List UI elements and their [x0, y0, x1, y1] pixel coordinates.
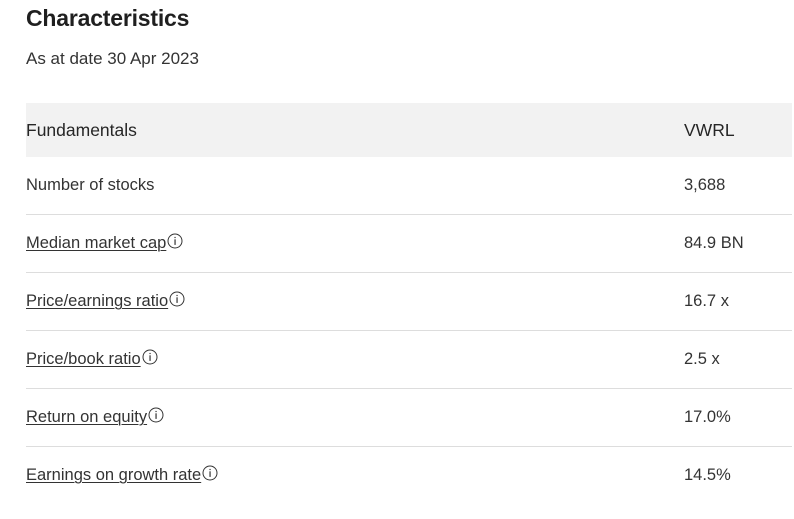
table-row: Earnings on growth rate14.5%	[26, 447, 792, 505]
metric-term-link[interactable]: Median market cap	[26, 234, 183, 253]
row-value-cell: 84.9 BN	[684, 215, 792, 273]
metric-label: Median market cap	[26, 234, 166, 253]
table-row: Price/book ratio2.5 x	[26, 331, 792, 389]
row-value-cell: 2.5 x	[684, 331, 792, 389]
info-circle-icon[interactable]	[167, 233, 183, 249]
table-body: Number of stocks3,688Median market cap84…	[26, 157, 792, 504]
info-circle-icon[interactable]	[169, 291, 185, 307]
metric-label: Return on equity	[26, 408, 147, 427]
metric-label: Price/book ratio	[26, 350, 141, 369]
row-label-cell: Price/book ratio	[26, 331, 684, 389]
row-value-cell: 14.5%	[684, 447, 792, 505]
info-circle-icon[interactable]	[142, 349, 158, 365]
page-title: Characteristics	[26, 0, 792, 32]
metric-term: Number of stocks	[26, 176, 154, 195]
characteristics-table: Fundamentals VWRL Number of stocks3,688M…	[26, 103, 792, 504]
row-label-cell: Price/earnings ratio	[26, 273, 684, 331]
metric-term-link[interactable]: Price/earnings ratio	[26, 292, 185, 311]
row-label-cell: Return on equity	[26, 389, 684, 447]
table-row: Price/earnings ratio16.7 x	[26, 273, 792, 331]
info-circle-icon[interactable]	[202, 465, 218, 481]
table-row: Median market cap84.9 BN	[26, 215, 792, 273]
column-header-fundamentals: Fundamentals	[26, 103, 684, 157]
metric-label: Earnings on growth rate	[26, 466, 201, 485]
as-at-date-label: As at date 30 Apr 2023	[26, 32, 792, 70]
row-label-cell: Median market cap	[26, 215, 684, 273]
metric-label: Price/earnings ratio	[26, 292, 168, 311]
row-value-cell: 17.0%	[684, 389, 792, 447]
table-row: Return on equity17.0%	[26, 389, 792, 447]
metric-label: Number of stocks	[26, 176, 154, 195]
column-header-vwrl: VWRL	[684, 103, 792, 157]
info-circle-icon[interactable]	[148, 407, 164, 423]
table-row: Number of stocks3,688	[26, 157, 792, 215]
table-header-row: Fundamentals VWRL	[26, 103, 792, 157]
characteristics-page: Characteristics As at date 30 Apr 2023 F…	[0, 0, 794, 519]
metric-term-link[interactable]: Price/book ratio	[26, 350, 158, 369]
row-value-cell: 3,688	[684, 157, 792, 215]
row-label-cell: Number of stocks	[26, 157, 684, 215]
row-label-cell: Earnings on growth rate	[26, 447, 684, 505]
metric-term-link[interactable]: Earnings on growth rate	[26, 466, 218, 485]
row-value-cell: 16.7 x	[684, 273, 792, 331]
metric-term-link[interactable]: Return on equity	[26, 408, 164, 427]
table-header: Fundamentals VWRL	[26, 103, 792, 157]
